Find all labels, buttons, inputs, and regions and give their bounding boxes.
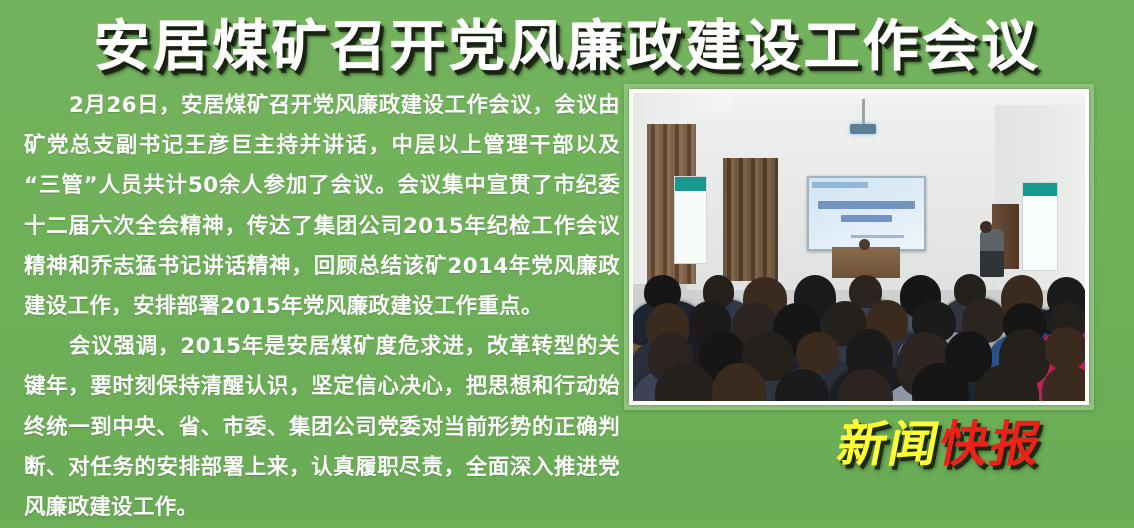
screen-header-bar xyxy=(812,182,867,188)
article-paragraph-2: 会议强调，2015年是安居煤矿度危求进，改革转型的关键年，要时刻保持清醒认识，坚… xyxy=(24,327,620,528)
photo-frame xyxy=(624,84,1094,410)
news-poster: 安居煤矿召开党风廉政建设工作会议 2月26日，安居煤矿召开党风廉政建设工作会议，… xyxy=(0,0,1134,520)
article-paragraph-1: 2月26日，安居煤矿召开党风廉政建设工作会议，会议由矿党总支副书记王彦巨主持并讲… xyxy=(24,86,620,327)
news-flash-wordmark: 新闻快报 xyxy=(832,414,1124,476)
screen-title-line-1 xyxy=(818,201,915,209)
projector-rod xyxy=(862,99,865,124)
audience-member-head xyxy=(796,332,839,374)
screen-title-line-2 xyxy=(841,215,892,222)
wordmark-part-a: 新闻 xyxy=(833,416,946,473)
photo-mat xyxy=(629,89,1089,405)
audience-member-head xyxy=(1045,327,1085,369)
audience xyxy=(633,222,1085,401)
article-body: 2月26日，安居煤矿召开党风廉政建设工作会议，会议由矿党总支副书记王彦巨主持并讲… xyxy=(24,86,620,528)
room-scene xyxy=(633,93,1085,401)
projector-icon xyxy=(850,124,876,134)
wordmark-part-b: 快报 xyxy=(935,416,1048,473)
page-title: 安居煤矿召开党风廉政建设工作会议 xyxy=(0,6,1134,84)
meeting-photo xyxy=(633,93,1085,401)
